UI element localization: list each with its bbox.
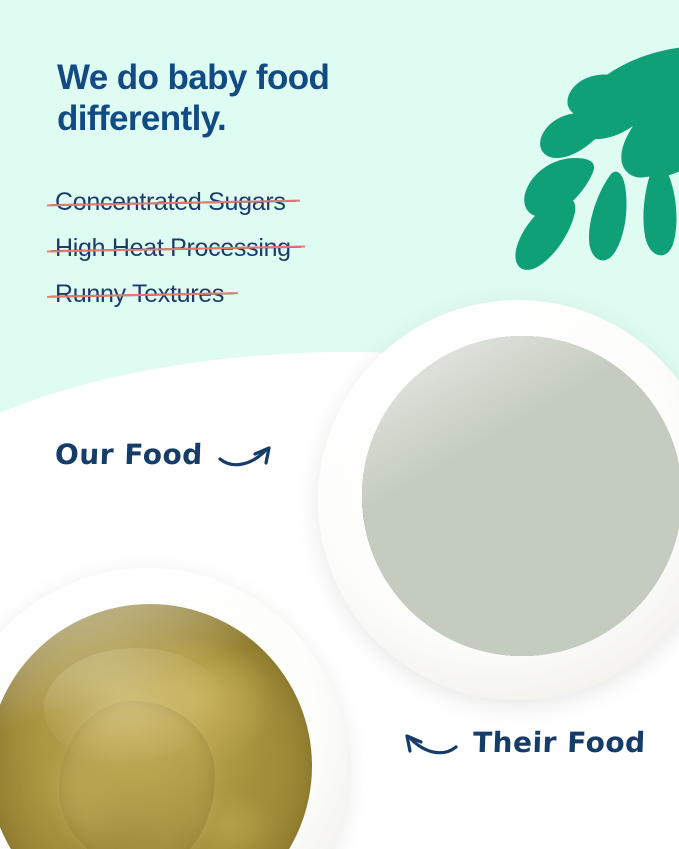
green-frond-leaf-icon (497, 40, 679, 272)
page-title: We do baby food differently. (57, 58, 477, 139)
green-food-texture (362, 336, 679, 656)
claim-item: Runny Textures (55, 282, 230, 307)
their-food-annotation: Their Food (393, 720, 646, 764)
green-food-puree (362, 336, 679, 656)
curved-arrow-left-icon (393, 720, 459, 764)
our-food-annotation: Our Food (55, 432, 283, 476)
excluded-claims-list: Concentrated Sugars High Heat Processing… (55, 190, 297, 328)
green-food-bowl (318, 300, 679, 700)
their-food-label: Their Food (472, 726, 646, 759)
headline-line-1: We do baby food (57, 58, 477, 99)
curved-arrow-right-icon (217, 432, 283, 476)
our-food-label: Our Food (54, 438, 203, 471)
promo-graphic-stage: We do baby food differently. Concentrate… (0, 0, 679, 849)
claim-item: Concentrated Sugars (55, 190, 292, 215)
tan-food-puree (0, 604, 312, 849)
claim-item: High Heat Processing (55, 236, 297, 261)
headline-line-2: differently. (57, 99, 477, 140)
